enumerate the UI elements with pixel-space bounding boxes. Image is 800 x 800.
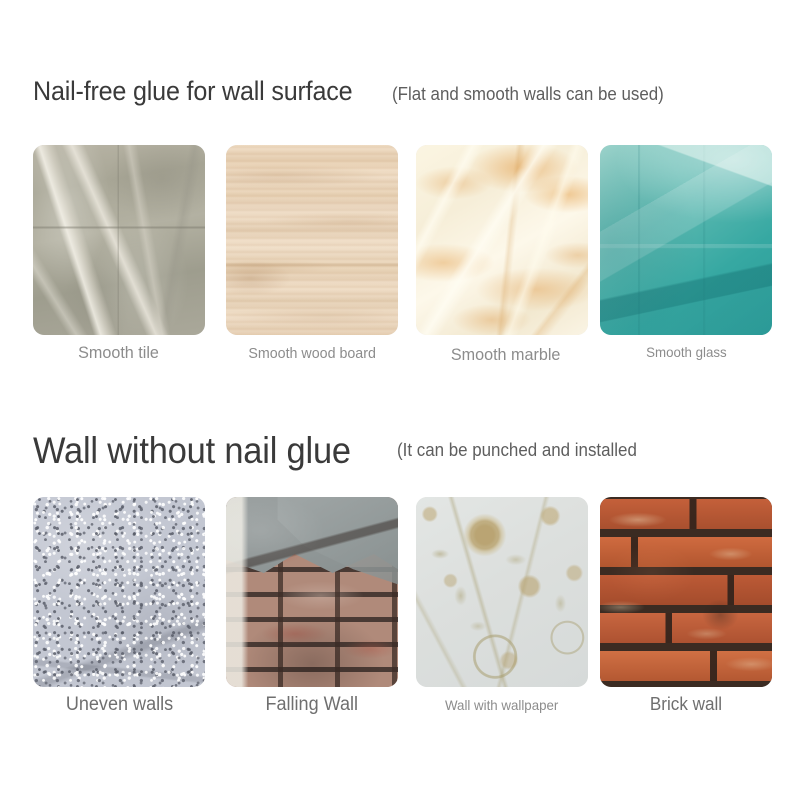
stucco-grain-layer <box>33 497 205 687</box>
smooth-marble-image <box>416 145 588 335</box>
swatch-row-smooth-surfaces: Smooth tile Smooth wood board Smooth mar… <box>0 145 800 335</box>
caption-smooth-marble: Smooth marble <box>420 345 592 365</box>
smooth-glass-image <box>600 145 772 335</box>
swatch-smooth-wood-board[interactable]: Smooth wood board <box>226 145 398 335</box>
section-1-heading: Nail-free glue for wall surface <box>33 76 352 107</box>
swatch-smooth-glass[interactable]: Smooth glass <box>600 145 772 335</box>
swatch-brick-wall[interactable]: Brick wall <box>600 497 772 687</box>
brick-wear-layer <box>600 497 772 687</box>
caption-smooth-tile: Smooth tile <box>33 343 205 363</box>
wallpaper-rose-layer <box>416 497 588 687</box>
section-2-heading: Wall without nail glue <box>33 430 351 472</box>
wall-with-wallpaper-image <box>416 497 588 687</box>
caption-smooth-glass: Smooth glass <box>600 344 772 360</box>
swatch-smooth-tile[interactable]: Smooth tile <box>33 145 205 335</box>
section-2-subtitle: (It can be punched and installed <box>397 440 637 461</box>
falling-wall-image <box>226 497 398 687</box>
section-1-subtitle: (Flat and smooth walls can be used) <box>392 84 664 105</box>
swatch-row-problem-surfaces: Uneven walls Falling Wall Wall with wal <box>0 497 800 687</box>
smooth-tile-image <box>33 145 205 335</box>
swatch-smooth-marble[interactable]: Smooth marble <box>416 145 588 335</box>
brick-wall-image <box>600 497 772 687</box>
caption-uneven-walls: Uneven walls <box>33 694 205 716</box>
caption-falling-wall: Falling Wall <box>226 694 398 716</box>
caption-brick-wall: Brick wall <box>600 694 772 715</box>
tile-grout-layer <box>33 145 205 335</box>
swatch-uneven-walls[interactable]: Uneven walls <box>33 497 205 687</box>
section-1-header: Nail-free glue for wall surface(Flat and… <box>33 76 682 107</box>
marble-vein-layer <box>416 145 588 335</box>
caption-wall-with-wallpaper: Wall with wallpaper <box>416 697 588 713</box>
falling-shade-layer <box>226 497 398 687</box>
swatch-wall-with-wallpaper[interactable]: Wall with wallpaper <box>416 497 588 687</box>
swatch-falling-wall[interactable]: Falling Wall <box>226 497 398 687</box>
caption-smooth-wood-board: Smooth wood board <box>226 345 398 362</box>
uneven-walls-image <box>33 497 205 687</box>
section-2-header: Wall without nail glue(It can be punched… <box>33 430 652 472</box>
smooth-wood-board-image <box>226 145 398 335</box>
wood-grain-layer <box>226 145 398 335</box>
glass-sheen-layer <box>600 145 772 335</box>
